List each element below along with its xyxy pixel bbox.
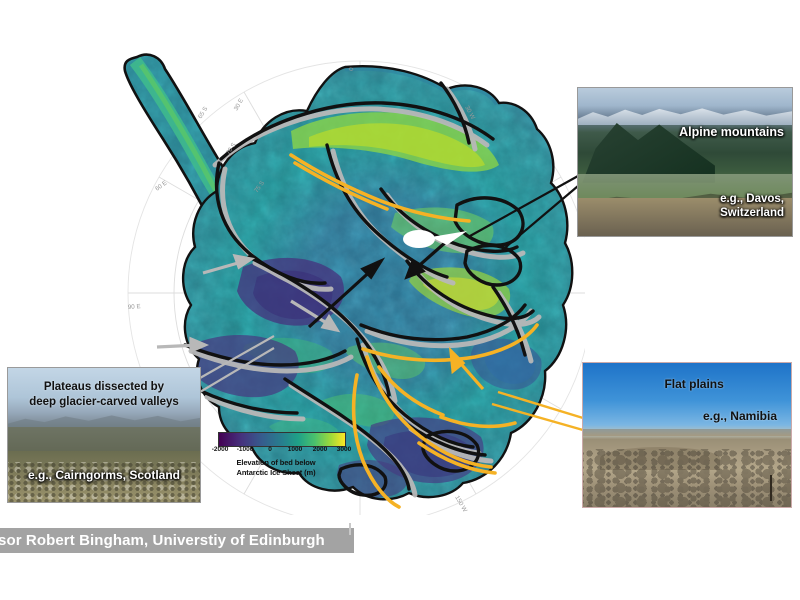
colorbar-tick-3: 1000 xyxy=(288,446,302,453)
alpine-label-secondary: e.g., Davos, Switzerland xyxy=(720,192,784,221)
scotland-label-primary-line2: deep glacier-carved valleys xyxy=(29,395,179,409)
presenter-credit-text: sor Robert Bingham, Universtiy of Edinbu… xyxy=(0,532,325,549)
colorbar-tick-1: -1000 xyxy=(237,446,254,453)
alpine-photo-image: Alpine mountains e.g., Davos, Switzerlan… xyxy=(578,88,792,236)
alpine-label-secondary-line2: Switzerland xyxy=(720,207,784,219)
photo-card-alpine[interactable]: Alpine mountains e.g., Davos, Switzerlan… xyxy=(578,88,792,236)
scotland-label-primary-line1: Plateaus dissected by xyxy=(44,380,164,394)
colorbar-tick-2: 0 xyxy=(268,446,272,453)
alpine-label-primary: Alpine mountains xyxy=(679,125,784,141)
alpine-label-secondary-line1: e.g., Davos, xyxy=(720,193,784,205)
svg-text:90 E: 90 E xyxy=(128,303,141,311)
presenter-credit-banner: sor Robert Bingham, Universtiy of Edinbu… xyxy=(0,528,354,553)
colorbar-caption-line1: Elevation of bed below xyxy=(196,458,356,467)
photo-card-scotland[interactable]: Plateaus dissected by deep glacier-carve… xyxy=(8,368,200,502)
namibia-post xyxy=(770,475,772,501)
banner-tick-mark xyxy=(349,523,351,535)
elevation-colorbar: -2000 -1000 0 1000 2000 3000 Elevation o… xyxy=(196,428,356,486)
scotland-label-secondary: e.g., Cairngorms, Scotland xyxy=(28,468,180,483)
namibia-label-primary: Flat plains xyxy=(664,377,723,392)
namibia-label-secondary: e.g., Namibia xyxy=(703,409,777,424)
namibia-horizon xyxy=(583,429,791,436)
slide-canvas: 0 65 S 30 E 70 S 75 S 60 E 30 W 90 E 150… xyxy=(0,0,800,600)
colorbar-caption-line2: Antarctic Ice Sheet (m) xyxy=(196,468,356,477)
namibia-gravel-texture xyxy=(583,449,791,507)
namibia-photo-image: Flat plains e.g., Namibia xyxy=(583,363,791,507)
colorbar-tick-5: 3000 xyxy=(337,446,351,453)
svg-text:30 E: 30 E xyxy=(233,97,245,112)
colorbar-tick-0: -2000 xyxy=(212,446,229,453)
colorbar-tick-labels: -2000 -1000 0 1000 2000 3000 xyxy=(196,446,356,458)
colorbar-gradient xyxy=(218,432,346,447)
photo-card-namibia[interactable]: Flat plains e.g., Namibia xyxy=(583,363,791,507)
colorbar-tick-4: 2000 xyxy=(313,446,327,453)
alpine-snow-ridge xyxy=(578,104,792,125)
scotland-photo-image: Plateaus dissected by deep glacier-carve… xyxy=(8,368,200,502)
